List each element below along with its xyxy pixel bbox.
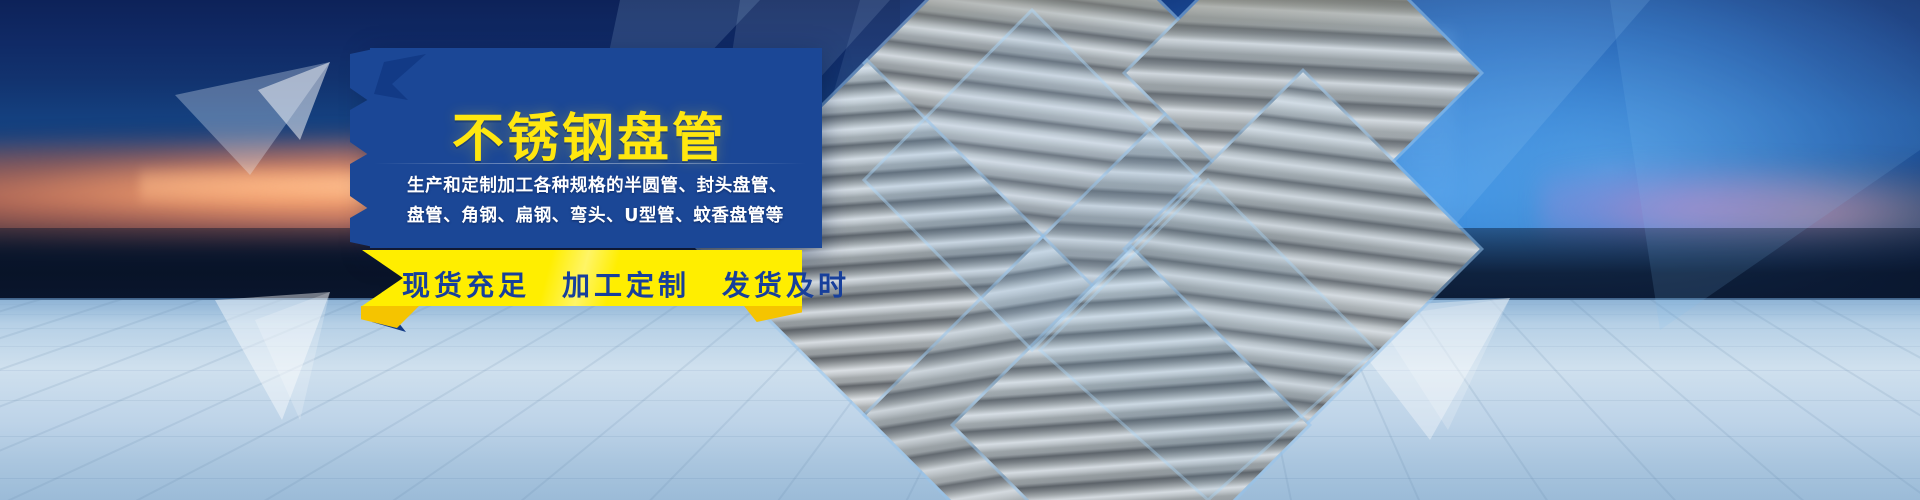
subtitle-line-2: 盘管、角钢、扁钢、弯头、U型管、蚊香盘管等 xyxy=(407,202,784,227)
glass-diamond-outlines xyxy=(820,0,1520,500)
title-divider xyxy=(374,163,806,164)
product-banner: 不锈钢盘管 生产和定制加工各种规格的半圆管、封头盘管、 盘管、角钢、扁钢、弯头、… xyxy=(0,0,1920,500)
subtitle-line-1: 生产和定制加工各种规格的半圆管、封头盘管、 xyxy=(407,172,787,197)
ribbon-label: 现货充足 加工定制 发货及时 xyxy=(402,264,850,304)
page-title: 不锈钢盘管 xyxy=(452,96,727,171)
